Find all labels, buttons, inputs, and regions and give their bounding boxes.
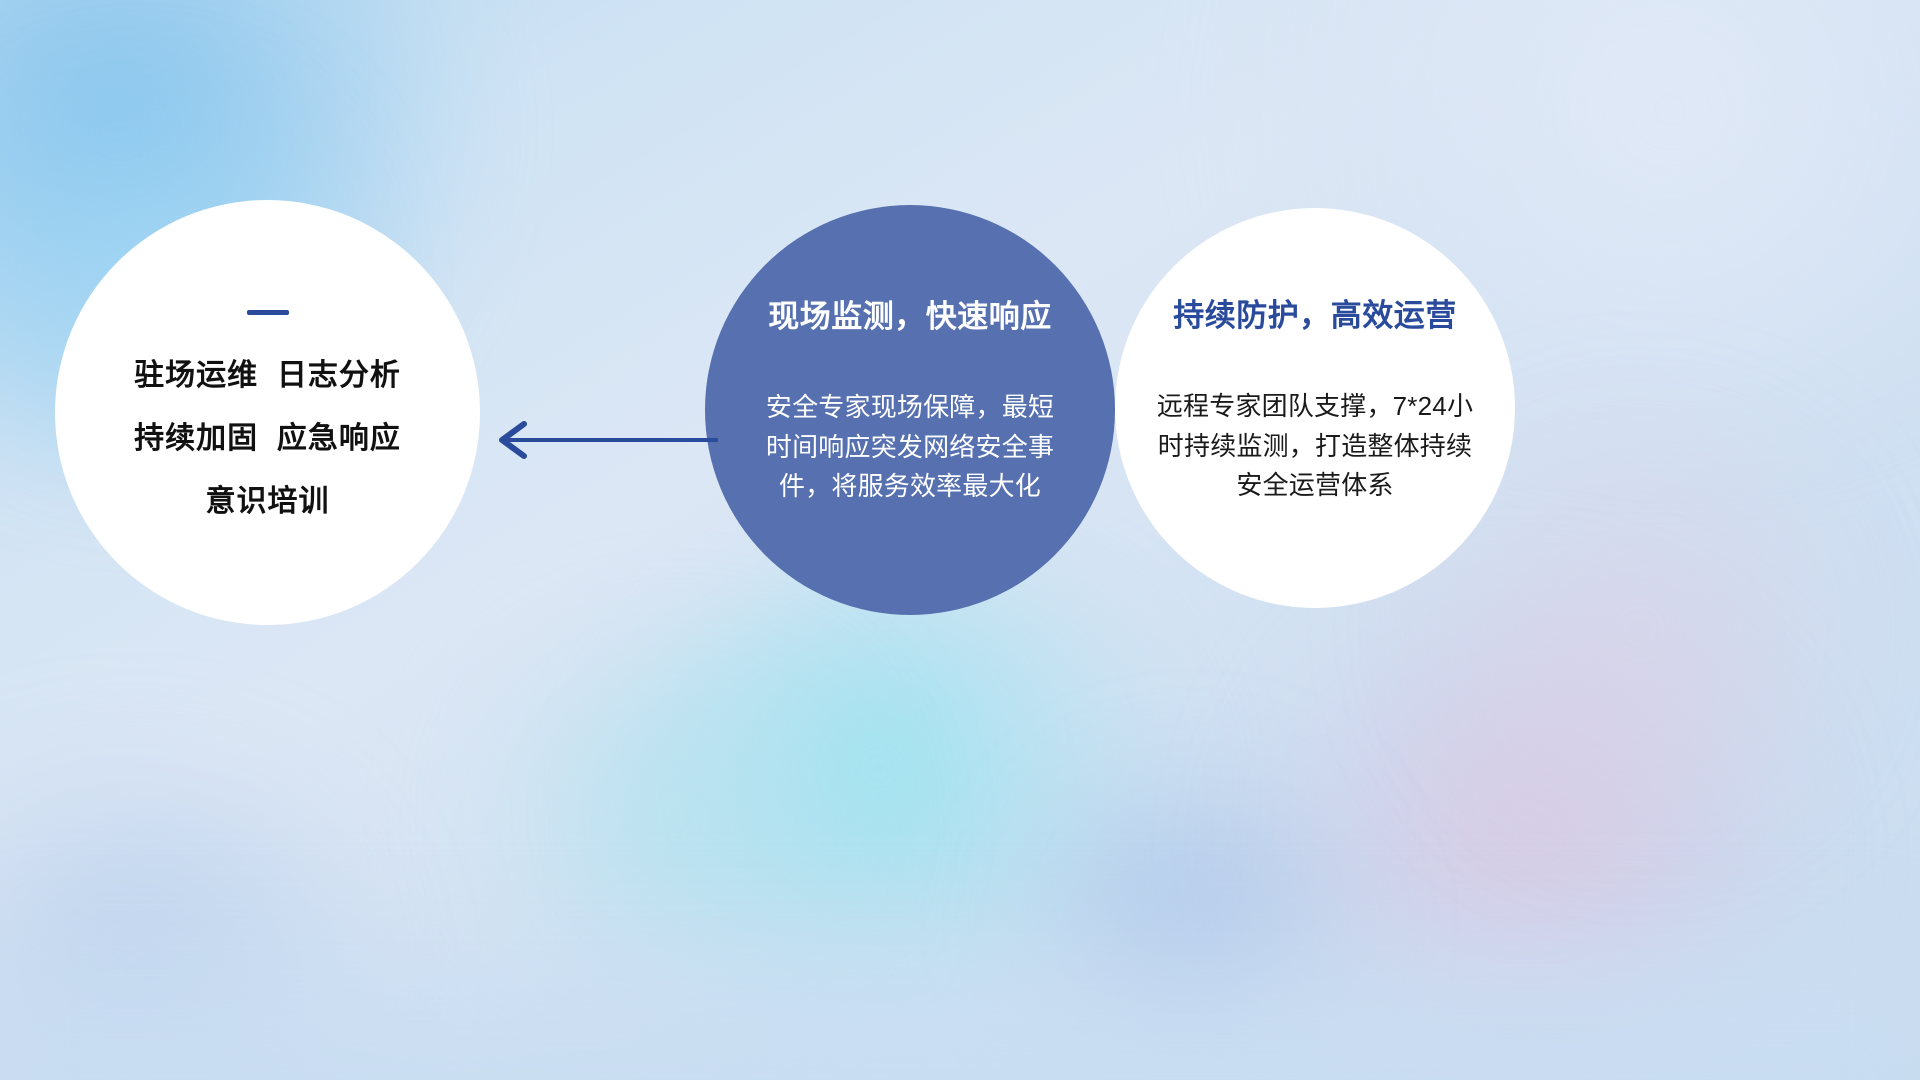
slide-canvas: 驻场运维 日志分析 持续加固 应急响应 意识培训 现场监测，快速响应 安全专家现… [0,0,1920,1080]
background-glow-violet [980,760,1400,1080]
background-glow-cyan-2 [420,640,940,1000]
left-circle-line-3: 意识培训 [206,487,330,517]
background-glow-pink [1250,600,1810,1080]
middle-circle-body: 安全专家现场保障，最短时间响应突发网络安全事件，将服务效率最大化 [765,388,1055,507]
left-capability-circle: 驻场运维 日志分析 持续加固 应急响应 意识培训 [55,200,480,625]
left-circle-line-1: 驻场运维 日志分析 [134,361,401,391]
middle-onsite-circle: 现场监测，快速响应 安全专家现场保障，最短时间响应突发网络安全事件，将服务效率最… [705,205,1115,615]
right-operations-circle: 持续防护，高效运营 远程专家团队支撑，7*24小时持续监测，打造整体持续安全运营… [1115,208,1515,608]
background-glow-cyan [600,560,1220,1080]
background-glow-bottom-left [0,760,440,1080]
right-circle-title: 持续防护，高效运营 [1173,290,1457,335]
divider-dash-icon [247,310,289,315]
right-circle-body: 远程专家团队支撑，7*24小时持续监测，打造整体持续安全运营体系 [1150,387,1480,506]
middle-circle-title: 现场监测，快速响应 [768,291,1052,336]
left-circle-line-2: 持续加固 应急响应 [134,424,401,454]
background-bottom-haze [0,880,1920,1080]
left-pointing-arrow-icon [490,418,720,462]
